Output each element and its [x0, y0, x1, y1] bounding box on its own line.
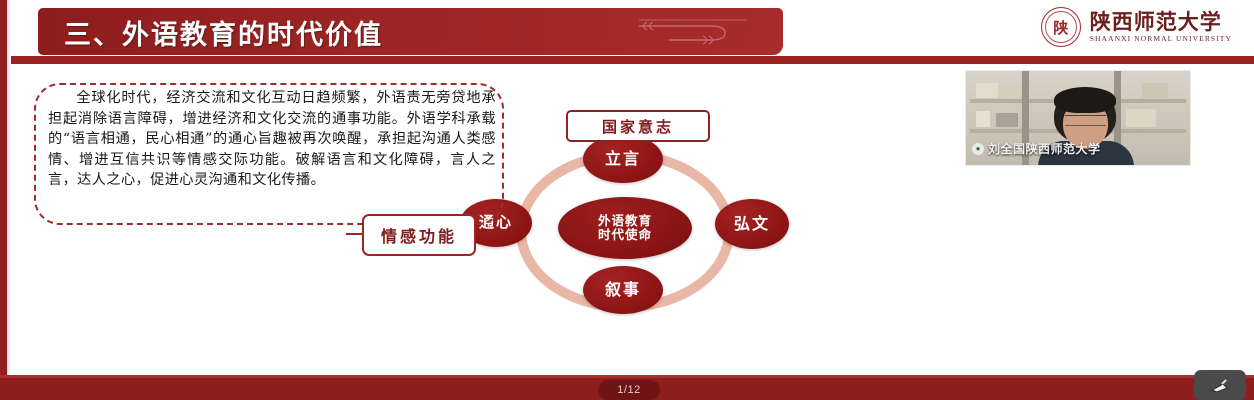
- shelf-book: [976, 83, 998, 98]
- university-logo: 陕 陕西师范大学 SHAANXI NORMAL UNIVERSITY: [1041, 6, 1232, 48]
- page-title: 三、外语教育的时代价值: [64, 13, 383, 52]
- body-paragraph: 全球化时代，经济交流和文化互动日趋频繁，外语责无旁贷地承担起消除语言障碍，增进经…: [48, 88, 496, 191]
- tag-label: 国家意志: [602, 116, 674, 137]
- slide-canvas: 三、外语教育的时代价值 陕 陕西师范大学 SHAANXI NORMAL UNIV…: [0, 0, 1254, 400]
- header-underline-bar: [0, 56, 1254, 64]
- diagram-tag-national-will: 国家意志: [566, 110, 710, 142]
- shelf-book: [976, 111, 990, 127]
- diagram-node-liyan: 立言: [583, 135, 663, 183]
- mic-icon: ●: [972, 143, 984, 155]
- university-name-en: SHAANXI NORMAL UNIVERSITY: [1090, 34, 1232, 43]
- shelf-book: [1126, 109, 1156, 127]
- diagram-node-xushi: 叙事: [583, 266, 663, 314]
- left-accent-rail: [0, 0, 7, 400]
- header-banner: 三、外语教育的时代价值: [38, 8, 783, 55]
- node-top-label: 立言: [605, 150, 641, 168]
- participant-hair: [1054, 87, 1116, 113]
- pointer-tool-button[interactable]: [1194, 370, 1246, 400]
- university-name-cn: 陕西师范大学: [1090, 11, 1232, 33]
- participant-glasses: [1065, 115, 1106, 126]
- shelf-book: [1002, 85, 1018, 98]
- center-label-line1: 外语教育: [598, 213, 652, 228]
- video-name-bar: ● 刘全国陕西师范大学: [966, 140, 1190, 157]
- shelf-book: [996, 113, 1018, 127]
- logo-text-block: 陕西师范大学 SHAANXI NORMAL UNIVERSITY: [1090, 11, 1232, 43]
- center-label-line2: 时代使命: [598, 228, 652, 242]
- callout-emotional-function: 情感功能: [362, 214, 476, 256]
- seal-character: 陕: [1042, 8, 1080, 46]
- decorative-swirl-icon: [633, 18, 753, 48]
- university-seal-icon: 陕: [1041, 7, 1081, 47]
- cursor-icon: [1209, 376, 1231, 394]
- diagram-center-node: 外语教育 时代使命: [558, 197, 692, 259]
- participant-name: 刘全国陕西师范大学: [988, 140, 1101, 157]
- left-rail-shadow: [7, 0, 11, 400]
- video-participant-tile[interactable]: ● 刘全国陕西师范大学: [966, 71, 1190, 165]
- callout-label: 情感功能: [381, 223, 457, 247]
- node-right-label: 弘文: [734, 215, 770, 233]
- shelf-book: [1142, 83, 1168, 98]
- node-bottom-label: 叙事: [605, 281, 641, 299]
- mission-diagram: 外语教育 时代使命 立言 通心 弘文 叙事 国家意志: [470, 105, 830, 340]
- page-indicator: 1/12: [598, 380, 660, 400]
- diagram-node-hongwen: 弘文: [715, 199, 789, 249]
